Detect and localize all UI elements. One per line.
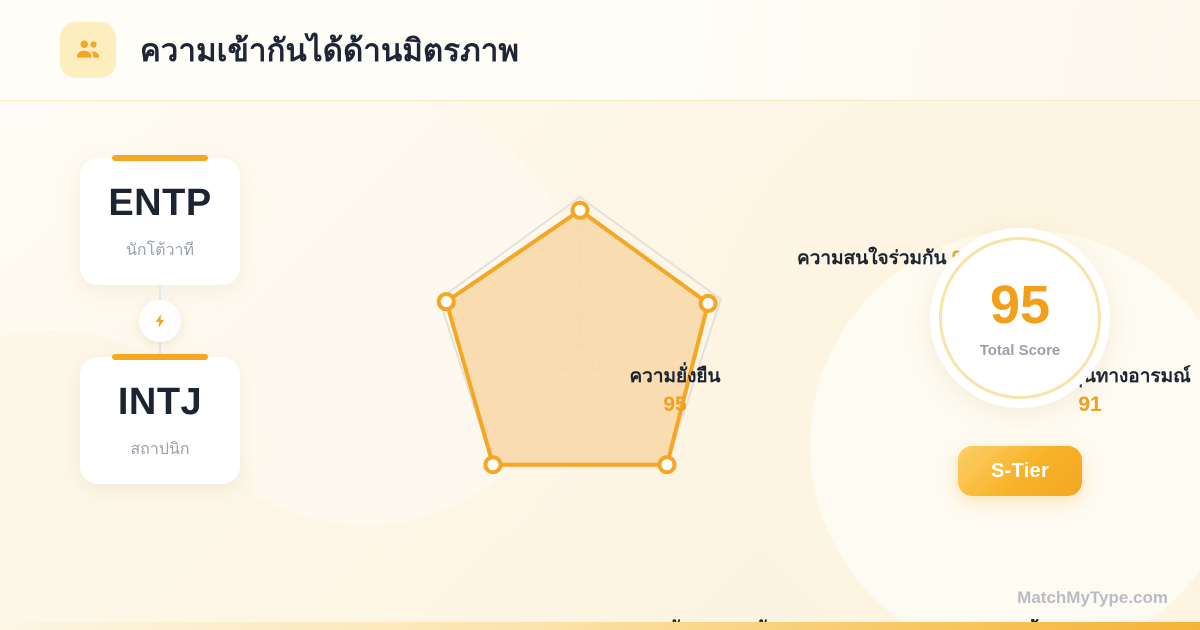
site-watermark: MatchMyType.com (1017, 588, 1168, 608)
total-score-circle: 95 Total Score (930, 228, 1110, 408)
radar-area (446, 210, 708, 464)
compatibility-card: ความเข้ากันได้ด้านมิตรภาพ ENTP นักโต้วาท… (0, 0, 1200, 630)
radar-point (439, 294, 454, 309)
type-code-first: ENTP (80, 184, 240, 222)
type-pair: ENTP นักโต้วาที INTJ สถาปนิก (80, 158, 240, 484)
page-title: ความเข้ากันได้ด้านมิตรภาพ (140, 25, 519, 75)
radar-point (573, 203, 588, 218)
total-score-value: 95 (990, 278, 1050, 332)
axis-label-4-text: ความยั่งยืน (629, 366, 720, 387)
type-card-second[interactable]: INTJ สถาปนิก (80, 357, 240, 484)
type-name-first: นักโต้วาที (80, 238, 240, 263)
people-group-icon (60, 22, 116, 78)
radar-chart: ความสนใจร่วมกัน 91 การสนับสนุนทางอารมณ์ … (300, 110, 900, 610)
tier-badge: S-Tier (958, 446, 1082, 496)
type-name-second: สถาปนิก (80, 437, 240, 462)
lightning-bolt-icon (139, 300, 181, 342)
type-connector (80, 285, 240, 357)
axis-label-0-text: ความสนใจร่วมกัน (797, 248, 946, 269)
score-panel: 95 Total Score S-Tier (930, 228, 1110, 496)
total-score-label: Total Score (980, 342, 1061, 359)
axis-value-4: 95 (550, 392, 800, 419)
header-bar: ความเข้ากันได้ด้านมิตรภาพ (0, 0, 1200, 101)
type-code-second: INTJ (80, 383, 240, 421)
bottom-accent-bar (0, 622, 1200, 630)
radar-point (660, 457, 675, 472)
card-accent-bar (112, 354, 208, 360)
type-card-first[interactable]: ENTP นักโต้วาที (80, 158, 240, 285)
card-accent-bar (112, 155, 208, 161)
axis-label-4: ความยั่งยืน 95 (550, 365, 800, 419)
radar-point (701, 296, 716, 311)
radar-point (486, 457, 501, 472)
